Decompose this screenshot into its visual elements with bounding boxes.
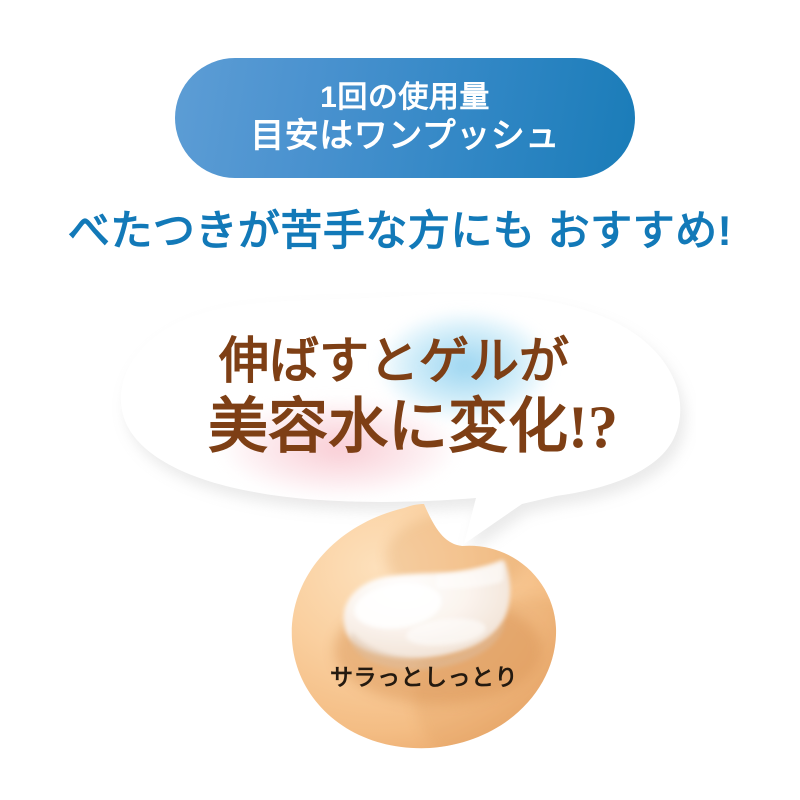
usage-amount-banner: 1回の使用量 目安はワンプッシュ: [175, 58, 635, 178]
banner-line-1: 1回の使用量: [320, 80, 490, 115]
promo-image-canvas: 1回の使用量 目安はワンプッシュ べたつきが苦手な方にも おすすめ! 伸ばすとゲ…: [0, 0, 800, 800]
bubble-line-1: 伸ばすとゲルが: [219, 335, 569, 388]
banner-line-2: 目安はワンプッシュ: [250, 116, 559, 156]
bubble-line-2: 美容水に変化!?: [208, 396, 618, 459]
speech-bubble: 伸ばすとゲルが 美容水に変化!?: [104, 292, 696, 552]
texture-caption: サラっとしっとり: [286, 658, 562, 692]
recommendation-headline: べたつきが苦手な方にも おすすめ!: [0, 197, 800, 258]
